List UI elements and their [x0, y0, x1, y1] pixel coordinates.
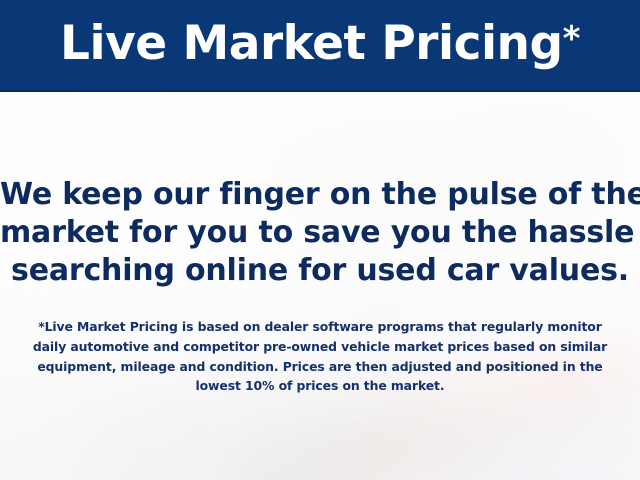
page-title-text: Live Market Pricing — [60, 16, 563, 71]
headline-line-3: searching online for used car values. — [0, 252, 640, 290]
disclaimer-line-1: *Live Market Pricing is based on dealer … — [0, 317, 640, 337]
headline-line-2: market for you to save you the hassle of — [0, 214, 640, 252]
headline-line-1: We keep our finger on the pulse of the — [0, 176, 640, 214]
headline-block: We keep our finger on the pulse of the m… — [0, 176, 640, 290]
disclaimer-block: *Live Market Pricing is based on dealer … — [0, 317, 640, 396]
disclaimer-line-2: daily automotive and competitor pre-owne… — [0, 337, 640, 357]
disclaimer-line-4: lowest 10% of prices on the market. — [0, 376, 640, 396]
disclaimer-line-3: equipment, mileage and condition. Prices… — [0, 357, 640, 377]
page-title: Live Market Pricing* — [60, 20, 580, 71]
live-market-pricing-promo-card: Live Market Pricing* We keep our finger … — [0, 0, 640, 480]
page-title-asterisk: * — [563, 19, 580, 59]
header-banner: Live Market Pricing* — [0, 0, 640, 92]
